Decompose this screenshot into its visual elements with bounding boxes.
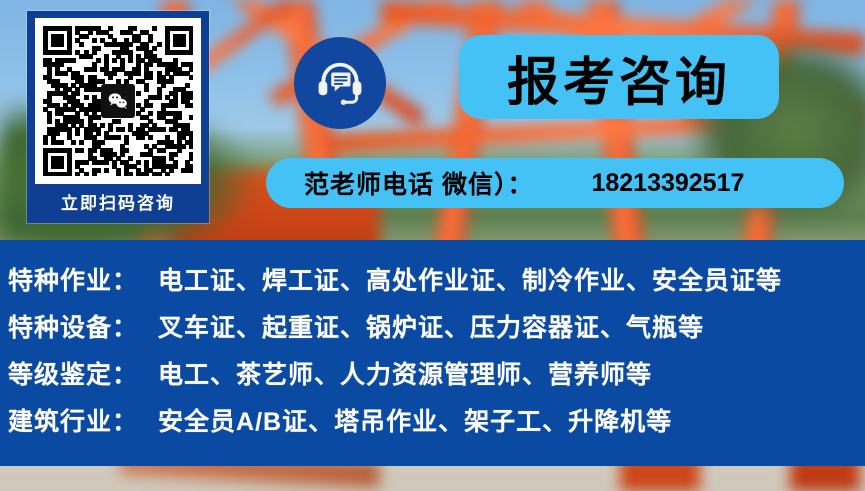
info-row-label: 特种设备： — [8, 305, 138, 352]
info-row-value: 电工证、焊工证、高处作业证、制冷作业、安全员证等 — [158, 258, 782, 305]
info-row-label: 等级鉴定： — [8, 352, 138, 399]
qr-code-image[interactable] — [35, 18, 201, 184]
advertisement-banner: 立即扫码咨询 报考咨询 范老师电话 微信）： 18213392517 特种作业：… — [0, 0, 865, 491]
info-row-label: 建筑行业： — [8, 399, 138, 446]
services-info-panel: 特种作业： 电工证、焊工证、高处作业证、制冷作业、安全员证等 特种设备： 叉车证… — [0, 240, 865, 466]
phone-label: 范老师电话 微信）： — [304, 165, 533, 201]
info-row: 特种作业： 电工证、焊工证、高处作业证、制冷作业、安全员证等 — [8, 258, 865, 305]
qr-code-card[interactable]: 立即扫码咨询 — [27, 11, 209, 223]
phone-pill[interactable]: 范老师电话 微信）： 18213392517 — [266, 158, 844, 208]
qr-card-label: 立即扫码咨询 — [31, 184, 205, 219]
info-row-value: 叉车证、起重证、锅炉证、压力容器证、气瓶等 — [158, 305, 704, 352]
phone-number[interactable]: 18213392517 — [591, 169, 744, 198]
headset-support-icon — [294, 37, 386, 129]
title-text: 报考咨询 — [507, 40, 731, 115]
info-row-value: 电工、茶艺师、人力资源管理师、营养师等 — [158, 352, 652, 399]
info-row-value: 安全员A/B证、塔吊作业、架子工、升降机等 — [158, 399, 672, 446]
title-pill: 报考咨询 — [459, 35, 779, 119]
info-row: 特种设备： 叉车证、起重证、锅炉证、压力容器证、气瓶等 — [8, 305, 865, 352]
info-row-label: 特种作业： — [8, 258, 138, 305]
info-row: 等级鉴定： 电工、茶艺师、人力资源管理师、营养师等 — [8, 352, 865, 399]
wechat-icon — [101, 84, 135, 118]
info-row: 建筑行业： 安全员A/B证、塔吊作业、架子工、升降机等 — [8, 399, 865, 446]
